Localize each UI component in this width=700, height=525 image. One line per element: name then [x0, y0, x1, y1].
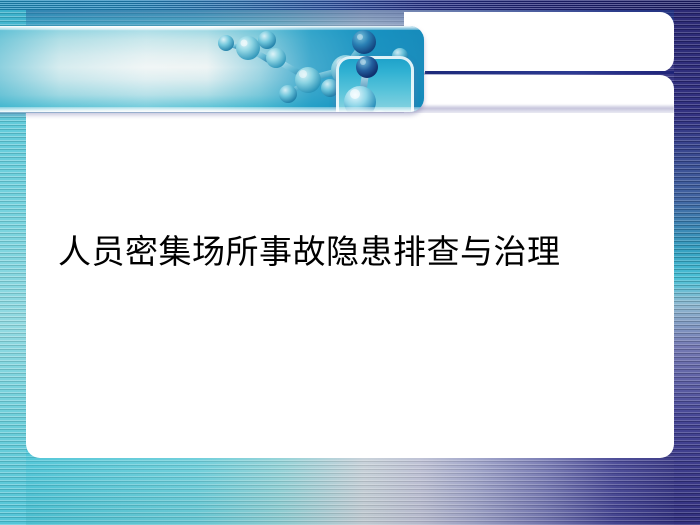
header-white-block-upper [404, 12, 674, 72]
molecule-tile-illustration [336, 56, 414, 112]
banner-top-highlight [0, 26, 424, 30]
slide-title: 人员密集场所事故隐患排查与治理 [26, 230, 674, 274]
content-panel [26, 113, 674, 458]
molecule-accent-tile [336, 56, 414, 112]
header-divider-rule [425, 71, 674, 74]
slide-canvas: 人员密集场所事故隐患排查与治理 [0, 0, 700, 525]
title-block: 人员密集场所事故隐患排查与治理 [26, 230, 674, 274]
molecule-banner [0, 26, 424, 112]
top-strip-stripe-overlay [0, 0, 700, 10]
right-rail-stripe-overlay [674, 0, 700, 525]
banner-bottom-highlight [0, 107, 424, 112]
